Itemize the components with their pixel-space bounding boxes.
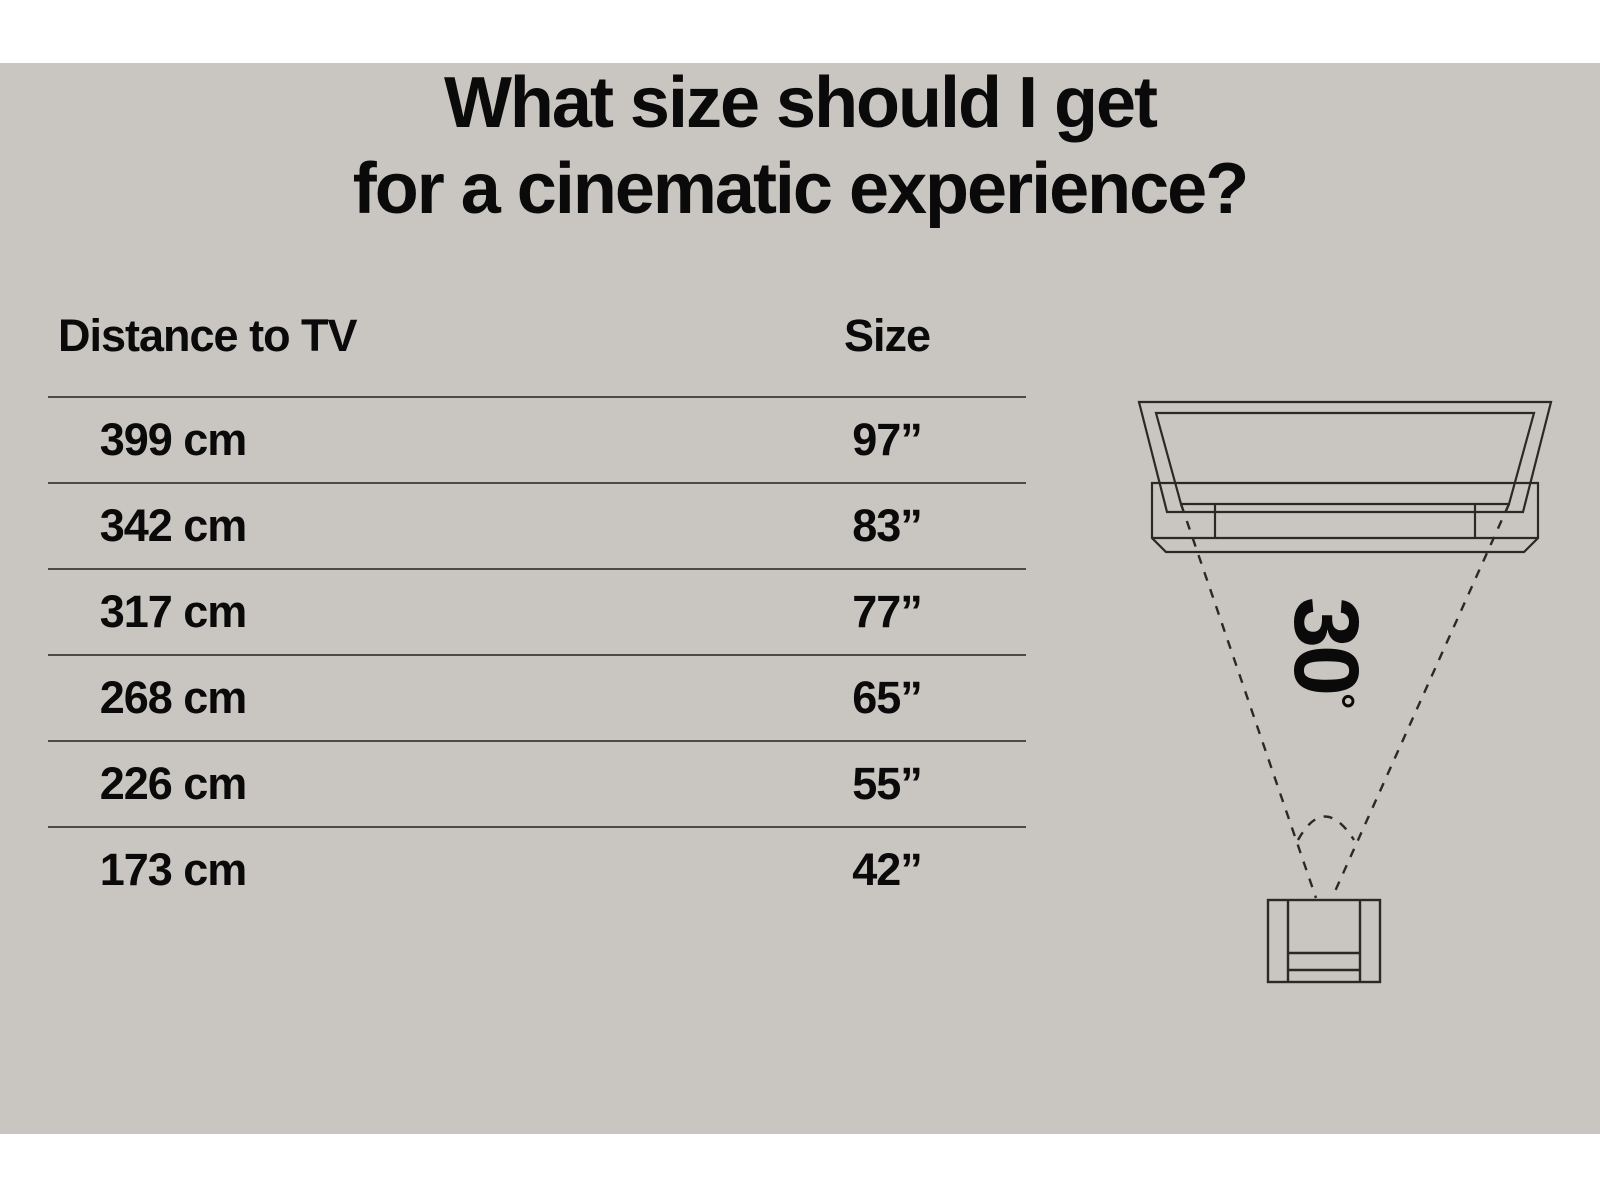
viewing-angle-diagram-svg [1080,370,1580,1030]
size-guide-table: Distance to TV Size 399 cm 97” 342 cm 83… [48,310,1026,912]
cell-size: 83” [748,483,1026,569]
table-row: 317 cm 77” [48,569,1026,655]
cell-distance: 399 cm [48,397,748,483]
table-row: 342 cm 83” [48,483,1026,569]
page-root: What size should I get for a cinematic e… [0,0,1600,1200]
cell-size: 55” [748,741,1026,827]
viewing-angle-arc [1298,817,1354,841]
column-header-size: Size [748,310,1026,397]
page-title: What size should I get for a cinematic e… [0,60,1600,232]
cell-size: 42” [748,827,1026,912]
page-title-line-2: for a cinematic experience? [0,146,1600,232]
cell-distance: 173 cm [48,827,748,912]
cell-size: 65” [748,655,1026,741]
sofa-top-view-icon [1268,900,1380,982]
table-header-row: Distance to TV Size [48,310,1026,397]
table-row: 173 cm 42” [48,827,1026,912]
viewing-angle-sightlines [1181,504,1509,898]
column-header-distance: Distance to TV [48,310,748,397]
sightline-right [1332,504,1509,898]
television-top-view-icon [1139,402,1551,552]
tv-bezel-outer [1139,402,1551,512]
cell-size: 97” [748,397,1026,483]
tv-screen-inner [1156,413,1534,504]
table-body: 399 cm 97” 342 cm 83” 317 cm 77” 268 cm … [48,397,1026,912]
table-header: Distance to TV Size [48,310,1026,397]
cell-distance: 317 cm [48,569,748,655]
table-row: 268 cm 65” [48,655,1026,741]
cell-distance: 268 cm [48,655,748,741]
page-title-line-1: What size should I get [0,60,1600,146]
tv-stand-slab [1152,483,1538,552]
cell-distance: 342 cm [48,483,748,569]
table-row: 226 cm 55” [48,741,1026,827]
cell-size: 77” [748,569,1026,655]
table-row: 399 cm 97” [48,397,1026,483]
viewing-angle-diagram [1080,370,1580,1030]
cell-distance: 226 cm [48,741,748,827]
size-guide-table-container: Distance to TV Size 399 cm 97” 342 cm 83… [48,310,1026,912]
sightline-left [1181,504,1316,898]
